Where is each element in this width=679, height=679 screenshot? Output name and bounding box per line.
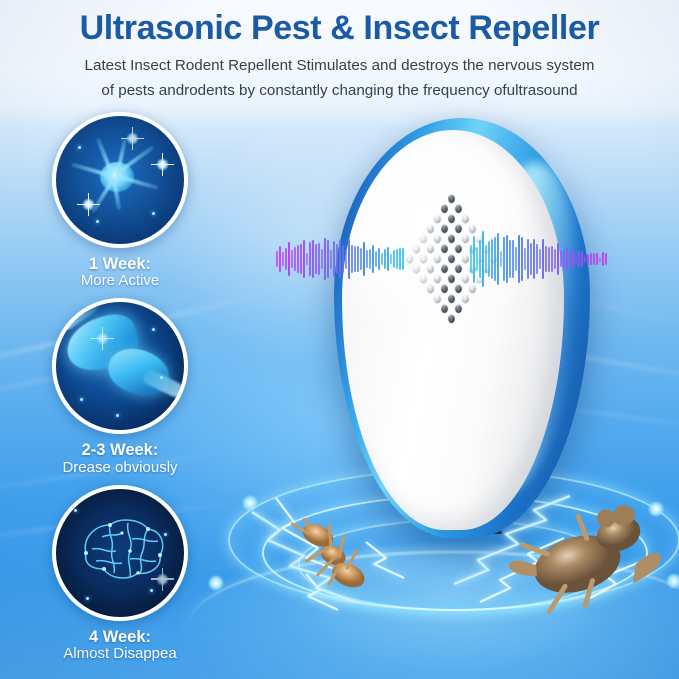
badge-label: 1 Week: More Active xyxy=(0,255,240,290)
timeline-badges: 1 Week: More Active 2-3 Week xyxy=(0,112,240,671)
header: Ultrasonic Pest & Insect Repeller Latest… xyxy=(0,0,679,103)
badge-image-neuron xyxy=(52,112,188,248)
page-title: Ultrasonic Pest & Insect Repeller xyxy=(0,0,679,48)
product-infographic: Ultrasonic Pest & Insect Repeller Latest… xyxy=(0,0,679,679)
badge-image-brain xyxy=(52,485,188,621)
badge-subtitle: Almost Disappea xyxy=(0,646,240,663)
brain-icon xyxy=(56,489,184,617)
ultrasonic-wave-right xyxy=(470,222,610,296)
page-subtitle: Latest Insect Rodent Repellent Stimulate… xyxy=(35,54,645,103)
badge-subtitle: More Active xyxy=(0,273,240,290)
subtitle-line-1: Latest Insect Rodent Repellent Stimulate… xyxy=(35,54,645,79)
neuron-icon xyxy=(56,116,184,244)
badge-label: 4 Week: Almost Disappea xyxy=(0,628,240,663)
badge-title: 2-3 Week: xyxy=(0,441,240,459)
badge-week-1[interactable]: 1 Week: More Active xyxy=(0,112,240,290)
subtitle-line-2: of pests androdents by constantly changi… xyxy=(35,79,645,104)
badge-image-synapse xyxy=(52,298,188,434)
fleeing-insect xyxy=(278,518,398,610)
badge-title: 1 Week: xyxy=(0,255,240,273)
badge-label: 2-3 Week: Drease obviously xyxy=(0,441,240,476)
ultrasonic-wave-left xyxy=(276,222,406,296)
badge-title: 4 Week: xyxy=(0,628,240,646)
brain-outline-icon xyxy=(72,513,170,587)
badge-subtitle: Drease obviously xyxy=(0,460,240,477)
badge-week-2-3[interactable]: 2-3 Week: Drease obviously xyxy=(0,298,240,476)
badge-week-4[interactable]: 4 Week: Almost Disappea xyxy=(0,485,240,663)
synapse-icon xyxy=(56,302,184,430)
fleeing-rodent xyxy=(506,500,662,616)
